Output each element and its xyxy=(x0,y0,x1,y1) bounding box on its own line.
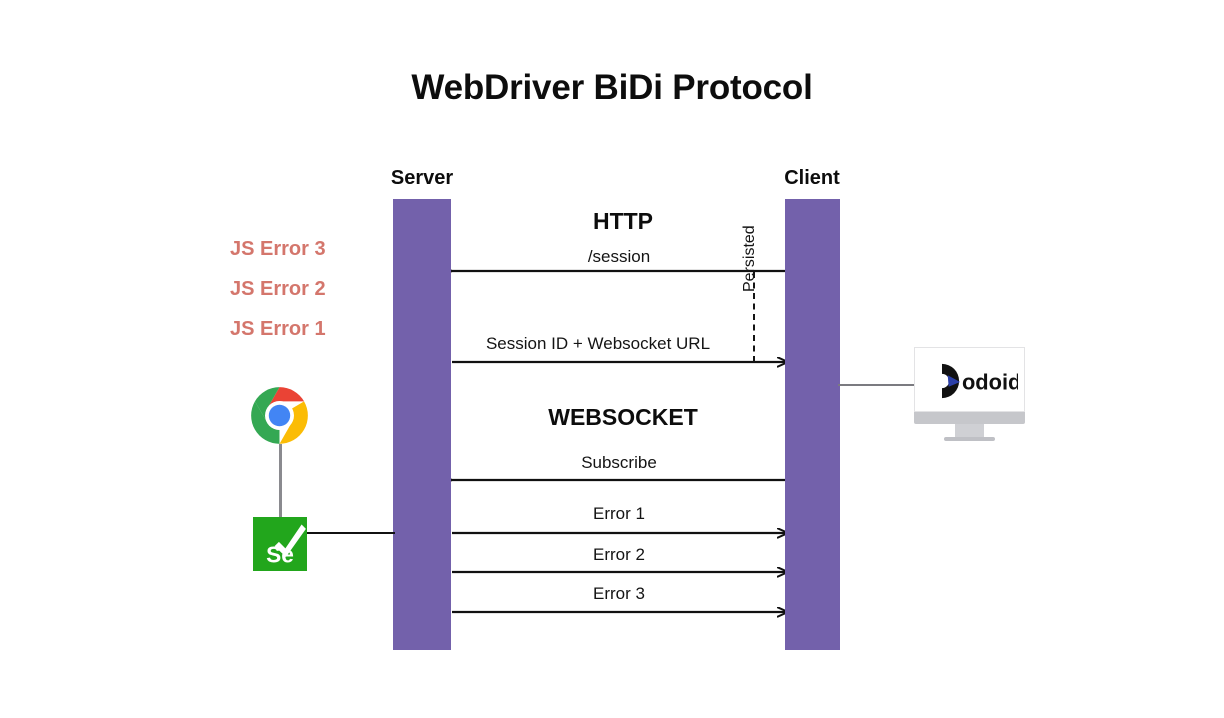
monitor-bezel xyxy=(914,412,1025,424)
message-label-session: /session xyxy=(452,247,786,267)
section-heading-websocket: WEBSOCKET xyxy=(452,404,794,431)
selenium-icon: Se xyxy=(253,517,307,571)
monitor-stand-foot xyxy=(944,437,995,441)
lifeline-label-client: Client xyxy=(752,167,872,190)
monitor-stand-neck xyxy=(955,424,984,437)
svg-text:Se: Se xyxy=(266,541,294,567)
message-label-error-2: Error 2 xyxy=(452,545,786,565)
monitor-screen: odoid xyxy=(914,347,1025,412)
annotation-persisted: Persisted xyxy=(741,192,765,292)
lifeline-bar-server xyxy=(393,199,451,650)
js-error-label-3: JS Error 3 xyxy=(230,238,326,261)
codoid-logo: odoid xyxy=(923,362,1018,400)
message-label-session-id-websocket-url: Session ID + Websocket URL xyxy=(452,334,744,354)
connector-selenium-to-server xyxy=(303,532,395,534)
lifeline-label-server: Server xyxy=(362,167,482,190)
connector-chrome-to-selenium xyxy=(279,444,282,520)
chrome-icon xyxy=(248,384,311,447)
codoid-wordmark: odoid xyxy=(962,370,1018,395)
page-title: WebDriver BiDi Protocol xyxy=(0,68,1224,108)
message-label-error-3: Error 3 xyxy=(452,584,786,604)
js-error-label-1: JS Error 1 xyxy=(230,318,326,341)
message-label-error-1: Error 1 xyxy=(452,504,786,524)
desktop-monitor-icon: odoid xyxy=(914,347,1025,440)
message-label-subscribe: Subscribe xyxy=(452,453,786,473)
connector-client-to-monitor xyxy=(838,384,918,386)
js-error-label-2: JS Error 2 xyxy=(230,278,326,301)
